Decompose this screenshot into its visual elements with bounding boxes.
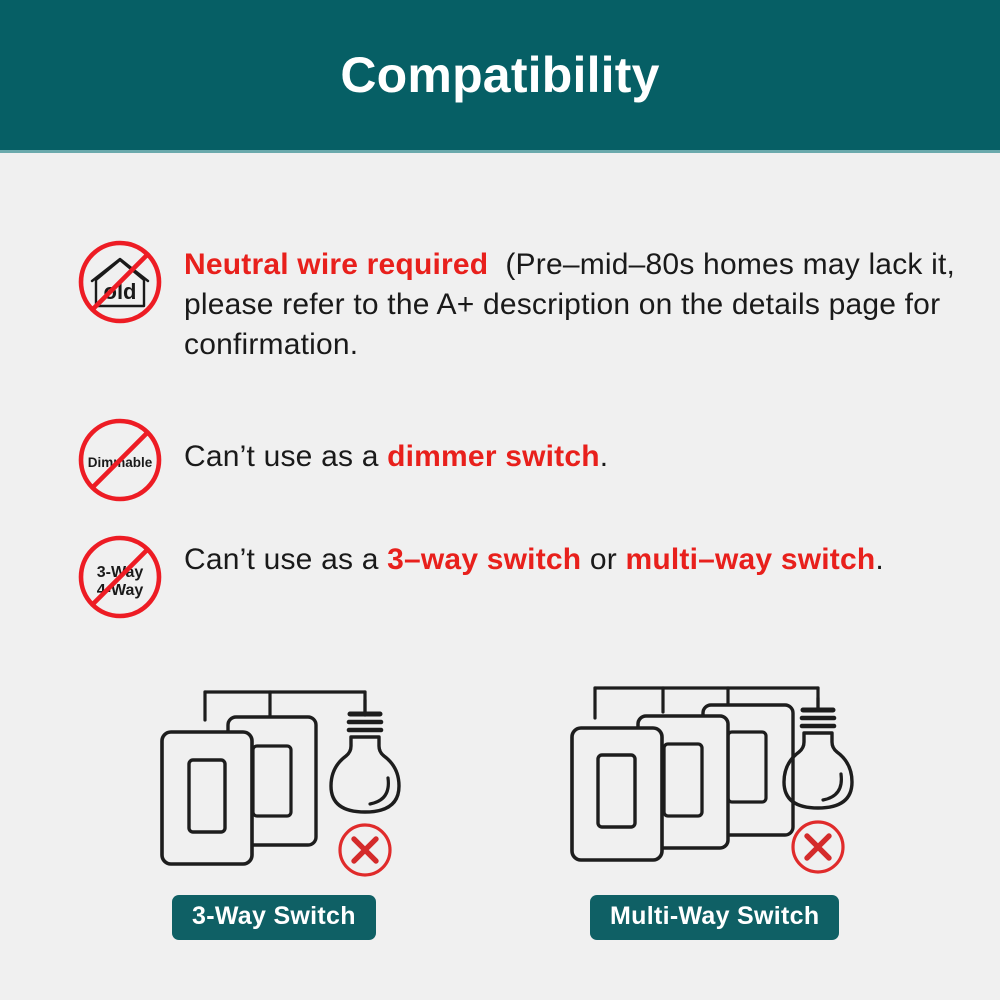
note-text-neutral-wire: Neutral wire required (Pre–mid–80s homes… (184, 240, 978, 365)
no-dimmable-icon: Dimmable (78, 418, 162, 502)
compatibility-infographic: Compatibility old (0, 0, 1000, 1000)
note-body: . (600, 440, 609, 473)
diagram-badge-3way: 3-Way Switch (172, 895, 376, 940)
note-highlight: dimmer switch (387, 440, 600, 473)
multi-way-diagram-art (560, 660, 880, 890)
note-body: . (875, 543, 884, 576)
header-divider (0, 150, 1000, 153)
note-text-dimmer: Can’t use as a dimmer switch. (184, 418, 978, 477)
note-item-multiway: 3-Way 4-Way Can’t use as a 3–way switch … (78, 535, 978, 619)
note-highlight-3way: 3–way switch (387, 543, 581, 576)
note-highlight-multiway: multi–way switch (625, 543, 875, 576)
note-lead: Can’t use as a (184, 440, 387, 473)
switch-diagrams: 3-Way Switch (0, 660, 1000, 960)
note-lead: Can’t use as a (184, 543, 387, 576)
three-way-diagram-art (150, 660, 430, 890)
note-text-multiway: Can’t use as a 3–way switch or multi–way… (184, 535, 974, 580)
multi-way-switch-diagram: Multi-Way Switch (560, 660, 880, 890)
x-mark (793, 822, 843, 872)
page-title: Compatibility (340, 50, 659, 100)
three-way-switch-diagram: 3-Way Switch (150, 660, 430, 890)
x-mark (340, 825, 390, 875)
note-middle: or (581, 543, 625, 576)
diagram-badge-multiway: Multi-Way Switch (590, 895, 839, 940)
note-item-neutral-wire: old Neutral wire required (Pre–mid–80s h… (78, 240, 978, 365)
prohibition-circle-dimmable: Dimmable (78, 418, 162, 502)
header-banner: Compatibility (0, 0, 1000, 150)
no-3way-4way-icon: 3-Way 4-Way (78, 535, 162, 619)
no-old-house-icon: old (78, 240, 162, 324)
note-highlight: Neutral wire required (184, 248, 488, 281)
prohibition-circle-3way-4way: 3-Way 4-Way (78, 535, 162, 619)
note-item-dimmer: Dimmable Can’t use as a dimmer switch. (78, 418, 978, 502)
prohibition-circle-house: old (78, 240, 162, 324)
